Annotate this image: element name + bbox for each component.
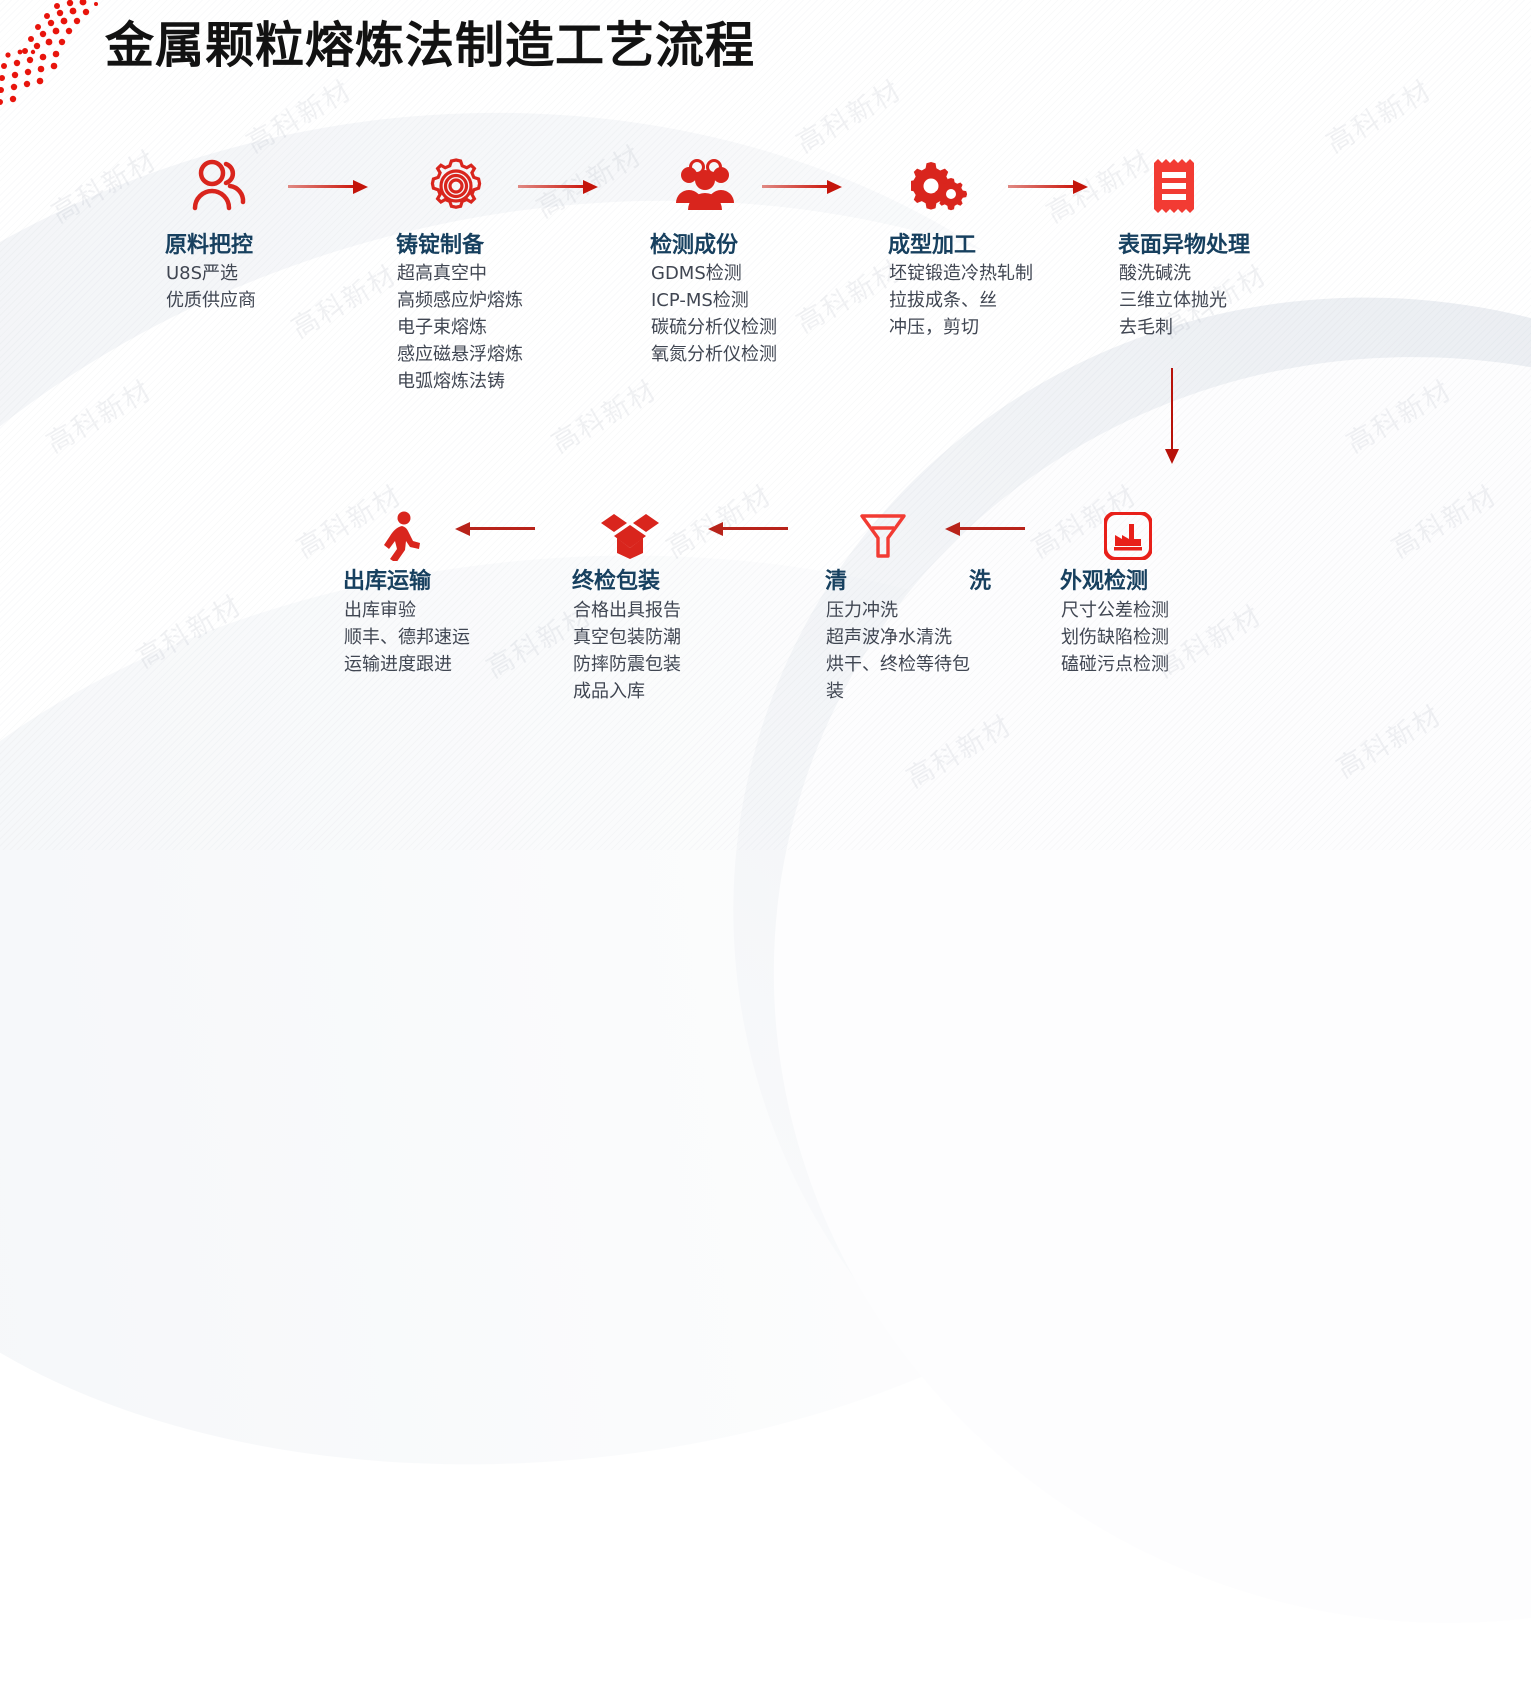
- flow-step-detail-line: 防摔防震包装: [573, 651, 681, 678]
- arrow-7-to-8: [708, 520, 788, 536]
- arrow-3-to-4: [762, 178, 842, 194]
- flow-step-detail-list: U8S严选 优质供应商: [166, 260, 256, 314]
- watermark: 高科新材: [43, 139, 163, 231]
- flow-step-detail-line: 坯锭锻造冷热轧制: [889, 260, 1033, 287]
- factory-badge-icon: [1088, 505, 1168, 567]
- flow-step-detail-line: 冲压，剪切: [889, 314, 1033, 341]
- flow-step-title: 检测成份: [650, 227, 738, 259]
- arrow-2-to-3: [518, 178, 598, 194]
- flow-step-detail-line: 尺寸公差检测: [1061, 597, 1169, 624]
- watermark: 高科新材: [283, 254, 403, 346]
- arrow-4-to-5: [1008, 178, 1088, 194]
- flow-step-detail-list: 出库审验 顺丰、德邦速运 运输进度跟进: [344, 597, 470, 678]
- flow-step-detail-line: U8S严选: [166, 260, 256, 287]
- flow-step-detail-line: ICP-MS检测: [651, 287, 777, 314]
- watermark: 高科新材: [1328, 694, 1448, 786]
- page-title: 金属颗粒熔炼法制造工艺流程: [105, 6, 755, 77]
- watermark: 高科新材: [898, 704, 1018, 796]
- watermark: 高科新材: [543, 369, 663, 461]
- flow-step-detail-line: 超高真空中: [397, 260, 523, 287]
- flow-step-detail-line: 碳硫分析仪检测: [651, 314, 777, 341]
- flow-step-detail-line: GDMS检测: [651, 260, 777, 287]
- flow-step-detail-line: 三维立体抛光: [1119, 287, 1227, 314]
- flow-step-detail-line: 烘干、终检等待包装: [826, 651, 978, 705]
- flow-step-title: 成型加工: [888, 227, 976, 259]
- flow-step-title: 表面异物处理: [1118, 227, 1250, 259]
- background-swoosh-shape: [609, 187, 1531, 1700]
- flow-step-title: 铸锭制备: [396, 227, 484, 259]
- receipt-icon: [1134, 155, 1214, 217]
- flow-step-detail-list: 合格出具报告 真空包装防潮 防摔防震包装 成品入库: [573, 597, 681, 705]
- flow-step-title: 终检包装: [572, 563, 660, 595]
- two-gears-icon: [900, 155, 980, 217]
- flow-step-detail-line: 高频感应炉熔炼: [397, 287, 523, 314]
- two-people-outline-icon: [180, 155, 260, 217]
- flow-step-detail-line: 磕碰污点检测: [1061, 651, 1169, 678]
- flow-step-detail-line: 去毛刺: [1119, 314, 1227, 341]
- watermark: 高科新材: [38, 369, 158, 461]
- flow-step-detail-line: 电弧熔炼法铸: [397, 368, 523, 395]
- watermark: 高科新材: [1338, 369, 1458, 461]
- flow-step-detail-line: 超声波净水清洗: [826, 624, 978, 651]
- gear-outline-icon: [416, 155, 496, 217]
- watermark: 高科新材: [1383, 474, 1503, 566]
- flow-step-detail-line: 氧氮分析仪检测: [651, 341, 777, 368]
- arrow-1-to-2: [288, 178, 368, 194]
- flow-step-detail-line: 合格出具报告: [573, 597, 681, 624]
- flow-step-detail-list: 超高真空中 高频感应炉熔炼 电子束熔炼 感应磁悬浮熔炼 电弧熔炼法铸: [397, 260, 523, 395]
- flow-step-title: 原料把控: [165, 227, 253, 259]
- flow-step-detail-list: 压力冲洗 超声波净水清洗 烘干、终检等待包装: [826, 597, 978, 705]
- flow-step-title: 出库运输: [343, 563, 431, 595]
- arrow-6-to-7: [945, 520, 1025, 536]
- watermark: 高科新材: [128, 584, 248, 676]
- flow-step-detail-line: 压力冲洗: [826, 597, 978, 624]
- flow-step-detail-list: 酸洗碱洗 三维立体抛光 去毛刺: [1119, 260, 1227, 341]
- people-group-icon: [665, 155, 745, 217]
- funnel-icon: [843, 505, 923, 567]
- walking-person-icon: [361, 505, 441, 567]
- flow-step-detail-list: 坯锭锻造冷热轧制 拉拔成条、丝 冲压，剪切: [889, 260, 1033, 341]
- flow-step-detail-list: GDMS检测 ICP-MS检测 碳硫分析仪检测 氧氮分析仪检测: [651, 260, 777, 368]
- flow-step-detail-line: 优质供应商: [166, 287, 256, 314]
- background-diagonal-pattern: [0, 0, 1531, 850]
- flow-step-detail-line: 酸洗碱洗: [1119, 260, 1227, 287]
- arrow-5-to-6: [1164, 368, 1180, 464]
- flow-step-detail-list: 尺寸公差检测 划伤缺陷检测 磕碰污点检测: [1061, 597, 1169, 678]
- arrow-8-to-9: [455, 520, 535, 536]
- flow-step-detail-line: 运输进度跟进: [344, 651, 470, 678]
- page-header: 金属颗粒熔炼法制造工艺流程: [0, 0, 1531, 92]
- flow-step-detail-line: 拉拔成条、丝: [889, 287, 1033, 314]
- flow-step-title: 清 洗: [825, 563, 1017, 595]
- flow-step-detail-line: 划伤缺陷检测: [1061, 624, 1169, 651]
- flow-step-detail-line: 顺丰、德邦速运: [344, 624, 470, 651]
- flow-step-detail-line: 电子束熔炼: [397, 314, 523, 341]
- flow-step-detail-line: 成品入库: [573, 678, 681, 705]
- flow-step-title: 外观检测: [1060, 563, 1148, 595]
- flow-step-detail-line: 真空包装防潮: [573, 624, 681, 651]
- flow-step-detail-line: 出库审验: [344, 597, 470, 624]
- flow-step-detail-line: 感应磁悬浮熔炼: [397, 341, 523, 368]
- open-box-icon: [590, 505, 670, 567]
